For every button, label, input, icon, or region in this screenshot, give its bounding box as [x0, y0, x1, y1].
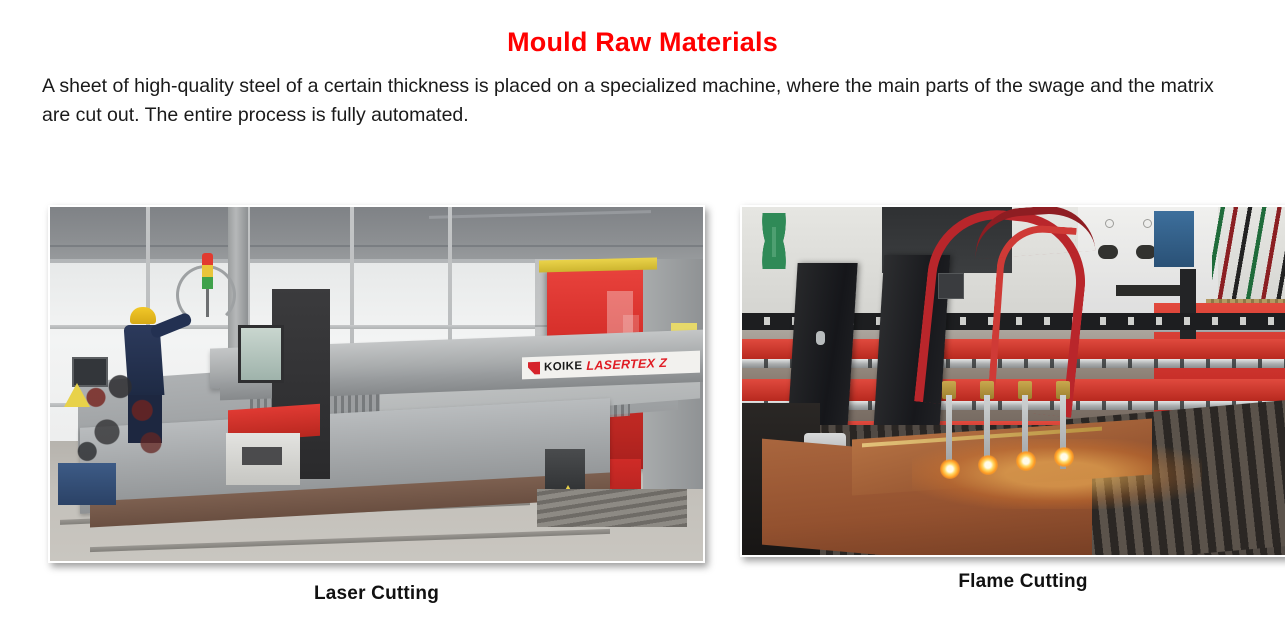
cutting-flame	[1054, 447, 1074, 467]
cutting-flame	[940, 459, 960, 479]
signal-tower-pole	[206, 289, 209, 317]
cutting-flame	[1016, 451, 1036, 471]
model-name: LASERTEX	[586, 356, 655, 373]
blue-object	[1154, 211, 1194, 267]
panel-screw	[1143, 219, 1152, 228]
panel-knob[interactable]	[1136, 245, 1156, 259]
caption-laser-cutting: Laser Cutting	[48, 583, 705, 605]
photo-laser-cutting: KOIKE LASERTEX Z	[48, 205, 705, 563]
machine-bracket	[1180, 269, 1196, 341]
torch-stem	[946, 395, 952, 469]
figure-laser-cutting: KOIKE LASERTEX Z Laser Cutting	[48, 205, 705, 605]
page-title: Mould Raw Materials	[0, 0, 1285, 58]
model-variant: Z	[659, 356, 667, 370]
cable-harness	[1212, 207, 1285, 303]
metal-scrap-pile	[537, 489, 687, 527]
caption-flame-cutting: Flame Cutting	[740, 571, 1285, 593]
panel-handle[interactable]	[816, 331, 825, 345]
signal-tower-light	[202, 253, 213, 289]
cutting-flame	[978, 455, 998, 475]
panel-screw	[1105, 219, 1114, 228]
blue-bin	[58, 463, 116, 505]
panel-knob[interactable]	[1098, 245, 1118, 259]
console-keyboard	[242, 447, 282, 465]
monitor	[72, 357, 108, 387]
photo-flame-cutting	[740, 205, 1285, 557]
brand-name: KOIKE	[544, 360, 582, 373]
hard-hat-icon	[130, 307, 156, 324]
photo-row: KOIKE LASERTEX Z Laser Cutting	[0, 189, 1285, 609]
figure-flame-cutting: Flame Cutting	[740, 205, 1285, 593]
green-sign-post	[772, 227, 776, 257]
intro-paragraph: A sheet of high-quality steel of a certa…	[0, 58, 1274, 131]
koike-logo-icon	[528, 361, 540, 374]
console-screen	[238, 325, 284, 383]
